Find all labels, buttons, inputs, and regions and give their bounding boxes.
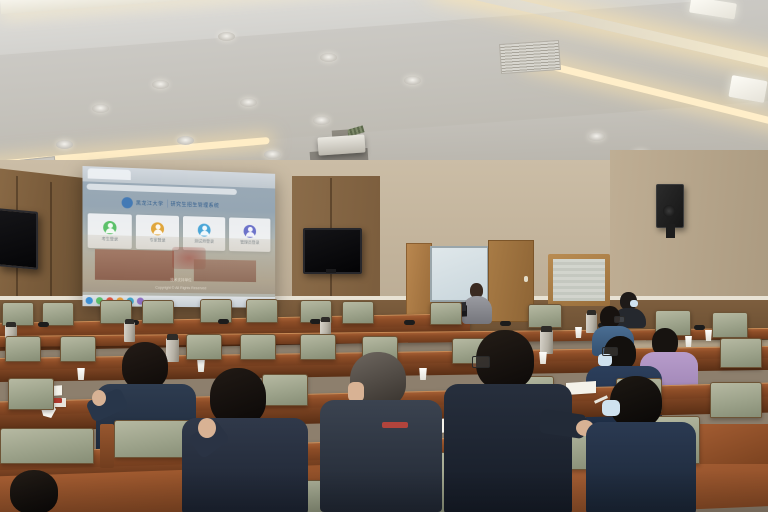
thermos-flask[interactable] — [124, 322, 135, 342]
projection-screen: 黑龙江大学 研究生招生管理系统 考生登录 专家登录 测试师登录 管理员登录 — [82, 166, 275, 308]
user-blue-icon — [198, 223, 211, 236]
foreground-desk-corner — [700, 424, 768, 464]
side-window-glass — [553, 259, 605, 301]
downlight — [240, 98, 257, 107]
chair[interactable] — [710, 382, 762, 418]
downlight — [320, 53, 337, 62]
browser-tab[interactable] — [88, 168, 131, 180]
downlight — [92, 104, 109, 113]
glasses-icon — [602, 347, 618, 356]
downlight — [588, 132, 605, 141]
monitor-stand — [326, 269, 336, 273]
glasses-icon — [472, 356, 490, 368]
chair[interactable] — [142, 300, 174, 324]
face-mask-icon — [602, 400, 620, 416]
chair[interactable] — [528, 304, 562, 328]
downlight — [218, 32, 235, 41]
downlight — [152, 80, 169, 89]
chair[interactable] — [60, 336, 96, 362]
downlight — [313, 116, 330, 125]
chair[interactable] — [430, 302, 462, 325]
downlight — [404, 76, 421, 85]
chair[interactable] — [342, 301, 374, 324]
right-wall-monitor — [303, 228, 362, 274]
chair[interactable] — [5, 336, 41, 362]
downlight — [264, 150, 281, 159]
desk-microphone[interactable] — [500, 321, 511, 326]
ceiling — [0, 0, 768, 175]
thermos-cap — [167, 334, 178, 340]
university-seal-icon — [122, 196, 133, 208]
hvac-vent — [499, 40, 561, 74]
ceiling-projector-icon — [317, 134, 365, 155]
desk-microphone[interactable] — [218, 319, 229, 324]
desk-microphone[interactable] — [404, 320, 415, 325]
door-handle-icon[interactable] — [524, 276, 528, 282]
brand-divider — [167, 200, 168, 208]
ear — [348, 382, 364, 402]
chair[interactable] — [0, 428, 94, 464]
left-door[interactable] — [406, 243, 432, 315]
chair-armrest — [100, 424, 114, 468]
desk-microphone[interactable] — [38, 322, 49, 327]
head — [122, 342, 168, 390]
hand — [198, 418, 216, 438]
downlight — [177, 136, 194, 145]
chair[interactable] — [720, 338, 762, 368]
thermos-cap — [6, 322, 16, 327]
start-icon[interactable] — [86, 297, 93, 304]
user-orange-icon — [151, 222, 164, 235]
user-purple-icon — [244, 224, 256, 237]
chair[interactable] — [8, 378, 54, 410]
chair[interactable] — [240, 334, 276, 360]
user-green-icon — [103, 220, 116, 234]
brand-name: 黑龙江大学 — [136, 199, 164, 207]
thermos-cap — [321, 317, 330, 322]
foreground-shadow — [0, 470, 768, 512]
conference-room-photo: 黑龙江大学 研究生招生管理系统 考生登录 专家登录 测试师登录 管理员登录 — [0, 0, 768, 512]
thermos-cap — [125, 319, 134, 324]
hand — [92, 390, 106, 406]
system-name: 研究生招生管理系统 — [171, 200, 220, 209]
glasses-icon — [614, 316, 625, 323]
chair[interactable] — [712, 312, 748, 338]
chair[interactable] — [246, 299, 278, 323]
jacket-logo — [382, 422, 408, 428]
downlight — [56, 140, 73, 149]
speaker-bracket — [666, 224, 675, 238]
speaker-cone-icon — [663, 205, 675, 217]
left-wall-monitor — [0, 208, 38, 269]
